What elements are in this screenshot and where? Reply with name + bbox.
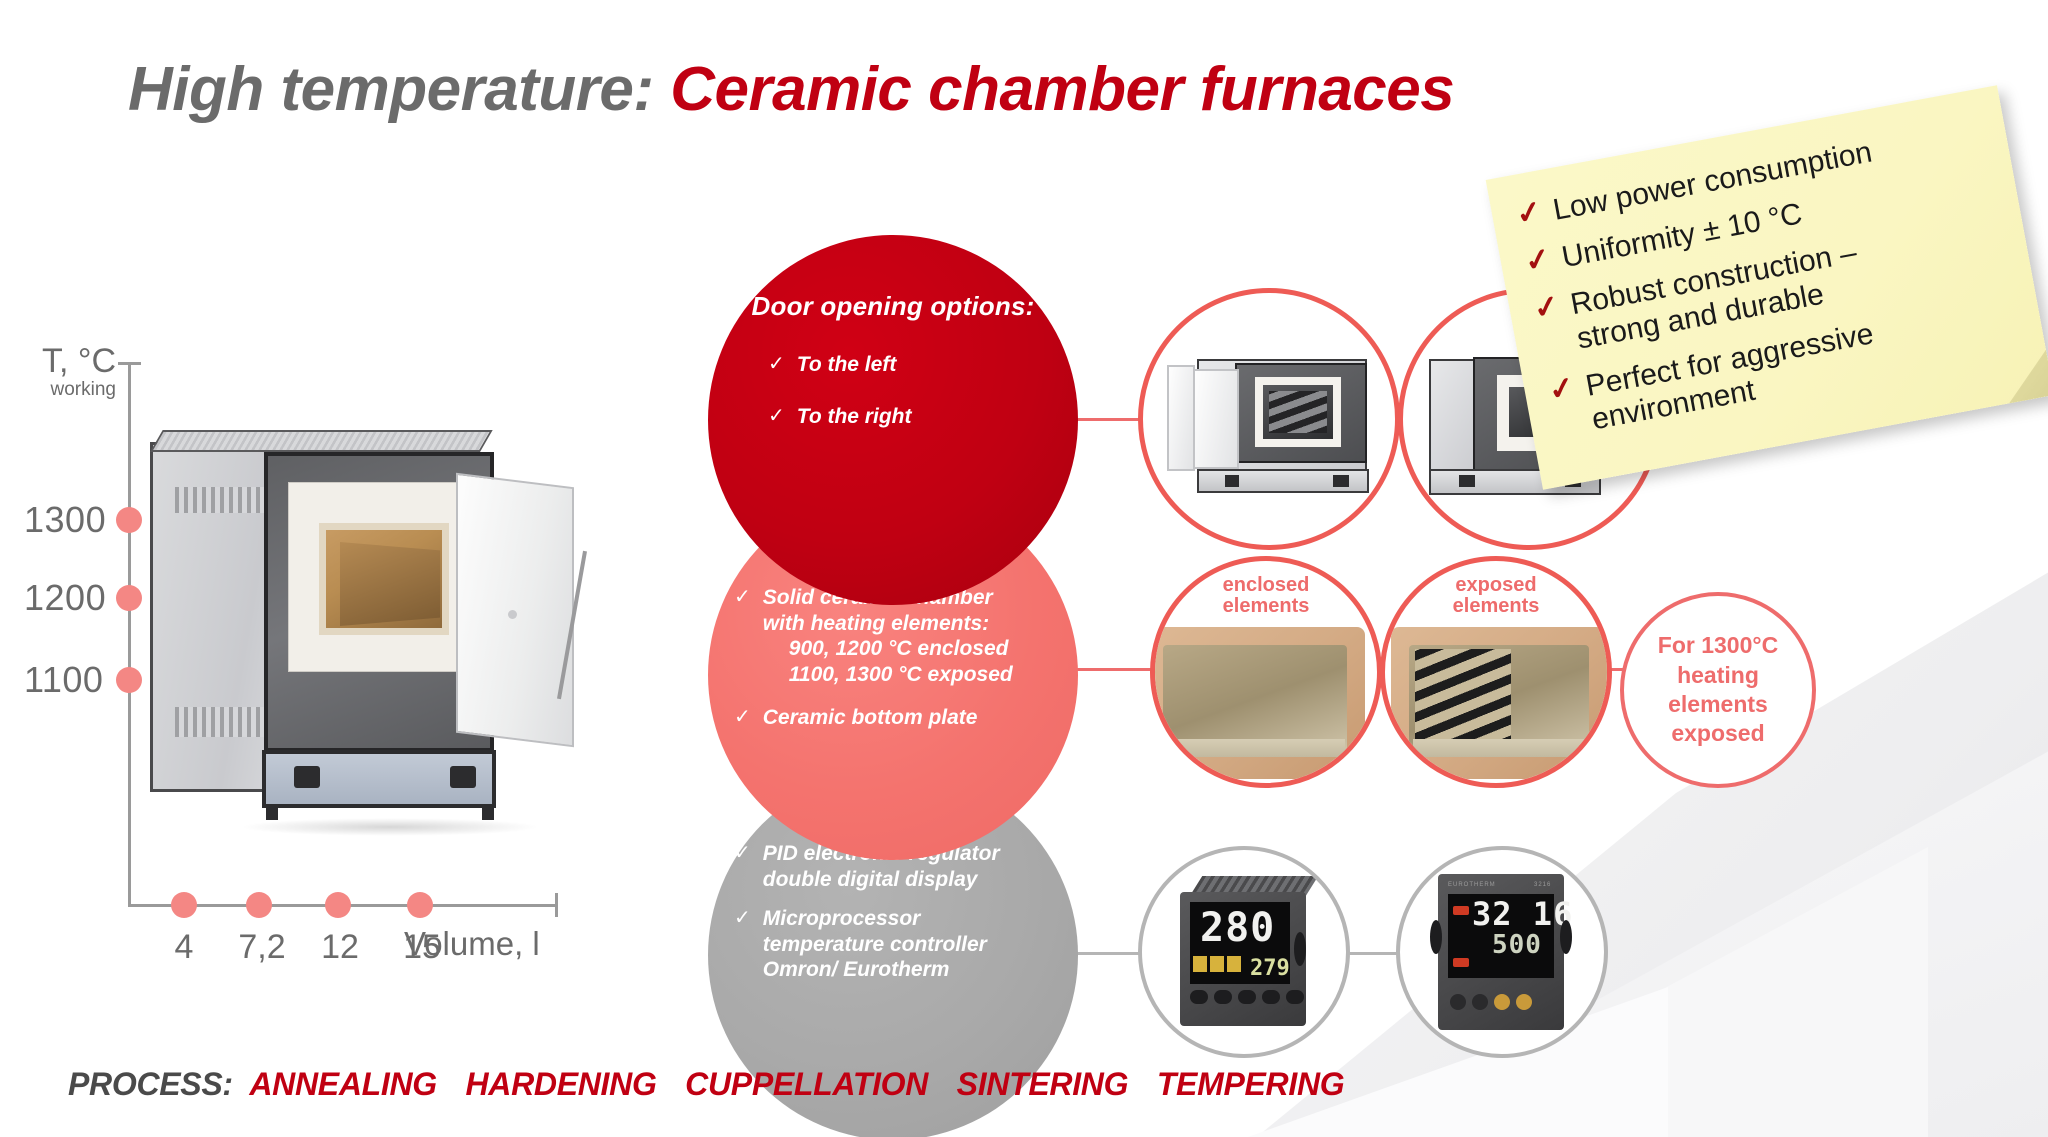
mini-furnace-heating-coils (1269, 391, 1327, 433)
chart-y-tick-label-1200: 1200 (24, 577, 106, 619)
bullet-control-1-line2: double digital display (763, 868, 978, 891)
chart-x-tick-label-7-2: 7,2 (238, 928, 285, 967)
eurotherm-sub-value: 500 (1492, 932, 1542, 958)
note-circle-1300c: For 1300°C heating elements exposed (1620, 592, 1816, 788)
caption-exposed-line1: exposed (1455, 574, 1536, 596)
eurotherm-page-button[interactable] (1450, 994, 1466, 1010)
photo-circle-eurotherm-controller: EUROTHERM 3216 32 16 500 (1396, 846, 1608, 1058)
info-circle-door-title: Door opening options: (708, 291, 1078, 322)
chart-point-1200 (116, 585, 142, 611)
chart-y-tick-label-1300: 1300 (24, 499, 106, 541)
checkmark-icon: ✓ (1514, 197, 1544, 231)
furnace-door-handle (508, 610, 517, 619)
bullet-door-1: ✓ To the left (734, 352, 1052, 378)
bullet-chamber-1-line2: with heating elements: (763, 612, 989, 635)
process-item-cuppellation: CUPPELLATION (685, 1066, 928, 1102)
page-title: High temperature: Ceramic chamber furnac… (128, 54, 1454, 125)
info-circle-door-inner: Door opening options: ✓ To the left ✓ To… (708, 235, 1078, 429)
eurotherm-side-latch-right (1560, 920, 1572, 954)
eurotherm-up-button[interactable] (1516, 994, 1532, 1010)
omron-button-row[interactable] (1190, 990, 1304, 1004)
omron-side-latch (1294, 932, 1306, 966)
process-list: PROCESS: ANNEALING HARDENING CUPPELLATIO… (68, 1066, 1344, 1103)
photo-circle-omron-controller: 280 279 (1138, 846, 1350, 1058)
omron-indicator-2 (1210, 956, 1224, 972)
eurotherm-model-label: 3216 (1534, 882, 1551, 888)
note-circle-line1: For 1300°C (1658, 632, 1778, 658)
furnace-chamber-opening (319, 523, 449, 635)
page-title-emphasis: Ceramic chamber furnaces (670, 55, 1454, 124)
process-item-tempering: TEMPERING (1157, 1066, 1345, 1102)
eurotherm-brand-label: EUROTHERM (1448, 882, 1496, 888)
process-item-sintering: SINTERING (957, 1066, 1129, 1102)
omron-indicator-1 (1193, 956, 1207, 972)
eurotherm-main-value: 32 16 (1472, 898, 1573, 930)
caption-exposed-elements: exposed elements (1385, 575, 1607, 617)
furnace-insulation-frame (288, 482, 478, 672)
bullet-control-2: ✓ Microprocessor temperature controller … (734, 906, 1052, 983)
bullet-chamber-1-line3: 900, 1200 °C enclosed (763, 636, 1013, 662)
photo-circle-exposed-elements: exposed elements (1380, 556, 1612, 788)
chart-point-vol-15 (407, 892, 433, 918)
mini-furnace-knob-left (1225, 475, 1239, 487)
ceramic-chamber-enclosed-interior (1163, 645, 1347, 753)
chart-x-tick-label-12: 12 (321, 928, 359, 967)
furnace-top-panel (150, 430, 493, 452)
furnace-chamber-interior (340, 542, 440, 626)
bullet-control-2-line2: temperature controller (763, 933, 987, 956)
info-circle-door-options: Door opening options: ✓ To the left ✓ To… (708, 235, 1078, 605)
note-circle-line2: heating (1677, 662, 1759, 688)
bullet-chamber-2: ✓ Ceramic bottom plate (734, 705, 1052, 731)
main-furnace-photo (150, 430, 570, 860)
photo-circle-furnace-door-left (1138, 288, 1400, 550)
checkmark-icon: ✓ (734, 906, 751, 931)
caption-enclosed-line2: elements (1223, 595, 1310, 617)
omron-button-1[interactable] (1190, 990, 1208, 1004)
checkmark-icon: ✓ (768, 352, 785, 377)
chart-y-axis-label-sub: working (30, 378, 116, 402)
mini-furnace-open-door (1193, 369, 1239, 469)
bullet-door-2: ✓ To the right (734, 404, 1052, 430)
chart-y-axis-label-main: T, °C (30, 344, 116, 378)
mini-furnace-knob-right (1333, 475, 1349, 487)
bullet-door-1-text: To the left (797, 352, 897, 378)
mini-door-back-panel (1167, 365, 1195, 471)
exposed-heating-coils (1415, 649, 1511, 745)
connector-omron-to-eurotherm (1342, 952, 1404, 955)
ceramic-chamber-enclosed (1150, 627, 1365, 779)
ceramic-bottom-plate-exposed (1413, 739, 1589, 757)
process-item-hardening: HARDENING (465, 1066, 656, 1102)
caption-enclosed-line1: enclosed (1223, 574, 1310, 596)
process-item-annealing: ANNEALING (249, 1066, 437, 1102)
bullet-control-2-line1: Microprocessor (763, 907, 921, 930)
omron-sub-value: 279 (1250, 958, 1290, 980)
eurotherm-scroll-button[interactable] (1472, 994, 1488, 1010)
furnace-legs (260, 806, 500, 820)
checkmark-icon: ✓ (1532, 291, 1562, 325)
checkmark-icon: ✓ (734, 585, 751, 610)
note-circle-1300c-text: For 1300°C heating elements exposed (1658, 631, 1778, 749)
chart-point-vol-7-2 (246, 892, 272, 918)
sticky-note-benefits: ✓ Low power consumption ✓ Uniformity ± 1… (1486, 85, 2048, 489)
chart-x-axis-cap (555, 893, 558, 917)
ceramic-chamber-exposed (1391, 627, 1607, 779)
caption-exposed-line2: elements (1453, 595, 1540, 617)
chart-point-vol-12 (325, 892, 351, 918)
chart-x-tick-label-4: 4 (175, 928, 194, 967)
omron-button-3[interactable] (1238, 990, 1256, 1004)
eurotherm-led-1 (1453, 906, 1469, 915)
eurotherm-side-latch-left (1430, 920, 1442, 954)
photo-circle-enclosed-elements: enclosed elements (1150, 556, 1382, 788)
slide-canvas: High temperature: Ceramic chamber furnac… (0, 0, 2048, 1137)
omron-controller: 280 279 (1174, 876, 1322, 1032)
chart-point-vol-4 (171, 892, 197, 918)
page-title-prefix: High temperature: (128, 55, 653, 124)
checkmark-icon: ✓ (1523, 244, 1553, 278)
ceramic-bottom-plate-enclosed (1167, 739, 1345, 757)
omron-button-4[interactable] (1262, 990, 1280, 1004)
mini-furnace-door-left (1163, 355, 1385, 495)
bullet-door-2-text: To the right (797, 404, 912, 430)
info-circle-door-bullets: ✓ To the left ✓ To the right (708, 352, 1078, 429)
bullet-chamber-1-line4: 1100, 1300 °C exposed (763, 662, 1013, 688)
info-circle-control-bullets: ✓ PID electronic regulator double digita… (708, 841, 1078, 983)
checkmark-icon: ✓ (734, 841, 751, 866)
chart-x-axis-label: Volume, l (404, 925, 540, 963)
chart-y-axis-cap (118, 362, 141, 365)
chart-y-axis-label: T, °C working (30, 344, 116, 402)
chart-y-tick-label-1100: 1100 (24, 659, 103, 701)
note-circle-line4: exposed (1671, 720, 1764, 746)
omron-button-2[interactable] (1214, 990, 1232, 1004)
omron-main-value: 280 (1200, 908, 1275, 948)
mini-furnace-knob-left-2 (1459, 475, 1475, 487)
eurotherm-led-2 (1453, 958, 1469, 967)
furnace-control-knob-right (450, 766, 476, 788)
checkmark-icon: ✓ (768, 404, 785, 429)
chart-point-1300 (116, 507, 142, 533)
info-circle-chamber-bullets: ✓ Solid ceramic chamber with heating ele… (708, 585, 1078, 731)
bullet-control-2-text: Microprocessor temperature controller Om… (763, 906, 987, 983)
checkmark-icon: ✓ (1547, 372, 1577, 406)
furnace-control-knob-left (294, 766, 320, 788)
bullet-control-2-line3: Omron/ Eurotherm (763, 958, 950, 981)
chart-point-1100 (116, 667, 142, 693)
eurotherm-down-button[interactable] (1494, 994, 1510, 1010)
omron-indicator-3 (1227, 956, 1241, 972)
bullet-chamber-2-line1: Ceramic bottom plate (763, 705, 978, 731)
eurotherm-button-row[interactable] (1450, 994, 1532, 1010)
eurotherm-controller: EUROTHERM 3216 32 16 500 (1434, 870, 1584, 1036)
note-circle-line3: elements (1668, 691, 1768, 717)
checkmark-icon: ✓ (734, 705, 751, 730)
omron-button-5[interactable] (1286, 990, 1304, 1004)
caption-enclosed-elements: enclosed elements (1155, 575, 1377, 617)
furnace-shadow (240, 818, 540, 836)
chart-y-axis (128, 362, 131, 907)
process-label: PROCESS: (68, 1066, 233, 1102)
